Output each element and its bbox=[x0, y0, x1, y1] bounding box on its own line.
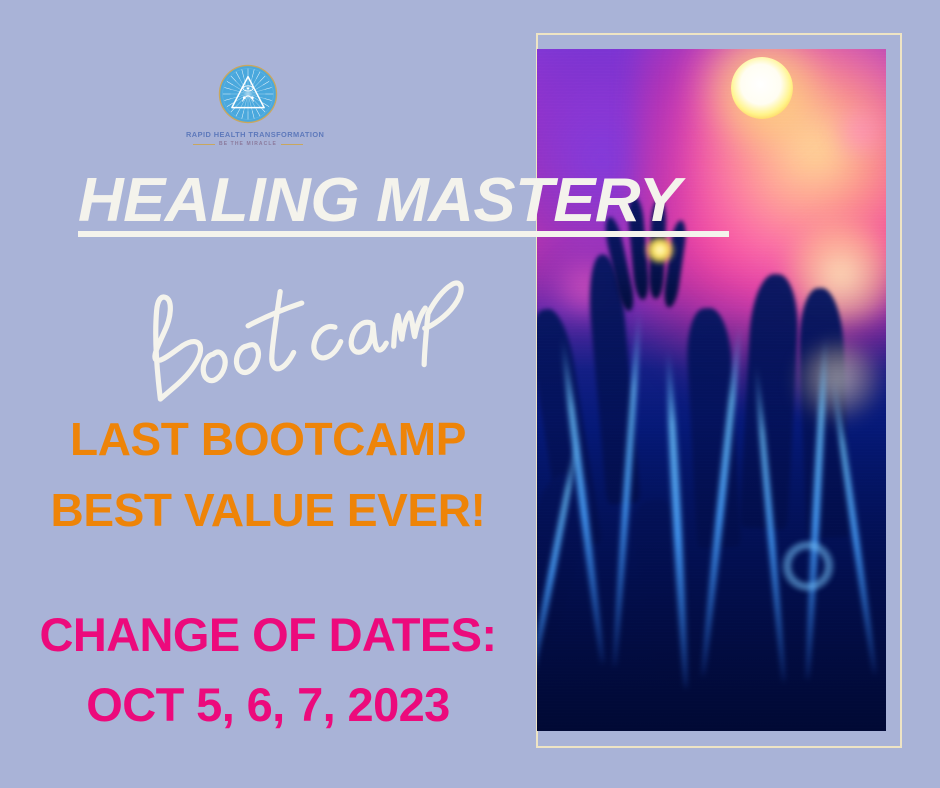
script-subtitle-artwork: Bootcamp bbox=[128, 256, 528, 384]
triangle-sunburst-emblem-icon bbox=[217, 63, 279, 125]
dates-block: CHANGE OF DATES: OCT 5, 6, 7, 2023 bbox=[0, 600, 536, 740]
offer-line-1: LAST BOOTCAMP bbox=[0, 404, 536, 475]
rapid-health-transformation-logo: RAPID HEALTH TRANSFORMATION BE THE MIRAC… bbox=[186, 63, 310, 161]
offer-line-2: BEST VALUE EVER! bbox=[0, 475, 536, 546]
headline-underline bbox=[78, 231, 729, 237]
raised-hands-concert-photo bbox=[537, 49, 886, 731]
logo-tagline-row: BE THE MIRACLE bbox=[186, 141, 310, 147]
tagline-rule-right bbox=[281, 144, 303, 145]
dates-line-2: OCT 5, 6, 7, 2023 bbox=[0, 670, 536, 740]
dates-line-1: CHANGE OF DATES: bbox=[0, 600, 536, 670]
photo-grain-overlay bbox=[537, 49, 886, 731]
logo-tagline: BE THE MIRACLE bbox=[219, 141, 277, 147]
page-title: HEALING MASTERY bbox=[78, 171, 681, 231]
script-subtitle: Bootcamp bbox=[128, 256, 528, 384]
offer-block: LAST BOOTCAMP BEST VALUE EVER! bbox=[0, 404, 536, 546]
poster-canvas: RAPID HEALTH TRANSFORMATION BE THE MIRAC… bbox=[0, 0, 940, 788]
logo-wordmark: RAPID HEALTH TRANSFORMATION bbox=[186, 130, 310, 139]
tagline-rule-left bbox=[193, 144, 215, 145]
